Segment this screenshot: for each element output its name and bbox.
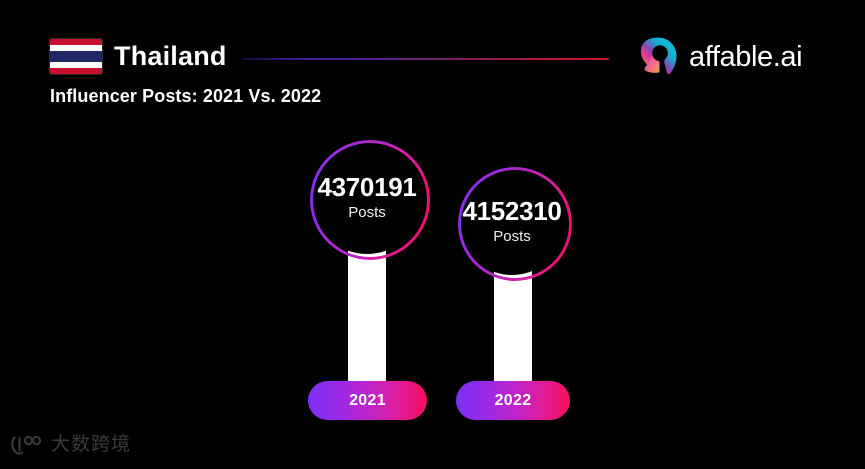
bubble-value-2021: 4370191 [317,172,416,202]
year-pill-2021[interactable]: 2021 [308,381,427,420]
thailand-flag-icon [50,39,102,74]
brand-name: affable.ai [689,39,802,75]
year-label-2022: 2022 [495,392,532,410]
brand-logo: affable.ai [637,33,822,81]
dashu-kuajing-logo-icon [10,434,44,456]
infographic-canvas: Thailand Influencer Posts: 2021 Vs. 2022 [0,0,865,469]
posts-comparison-chart: 4370191 Posts 2021 4152310 Posts 2022 [0,120,865,430]
value-bubble-2021: 4370191 Posts [310,140,424,254]
page-subtitle: Influencer Posts: 2021 Vs. 2022 [50,86,321,107]
bar-stem-2021 [348,245,386,390]
value-bubble-2022: 4152310 Posts [458,167,566,275]
year-label-2021: 2021 [349,392,386,410]
header: Thailand Influencer Posts: 2021 Vs. 2022 [0,0,865,120]
watermark-text: 大数跨境 [51,433,131,457]
country-title: Thailand [114,40,227,73]
affable-logo-mark-icon [637,36,679,78]
year-pill-2022[interactable]: 2022 [456,381,570,420]
watermark: 大数跨境 [10,430,131,460]
bubble-unit-label-2022: Posts [493,227,531,246]
bar-stem-2022 [494,267,532,390]
header-divider [242,58,609,60]
bubble-unit-label-2021: Posts [348,203,386,222]
bubble-value-2022: 4152310 [462,196,561,226]
